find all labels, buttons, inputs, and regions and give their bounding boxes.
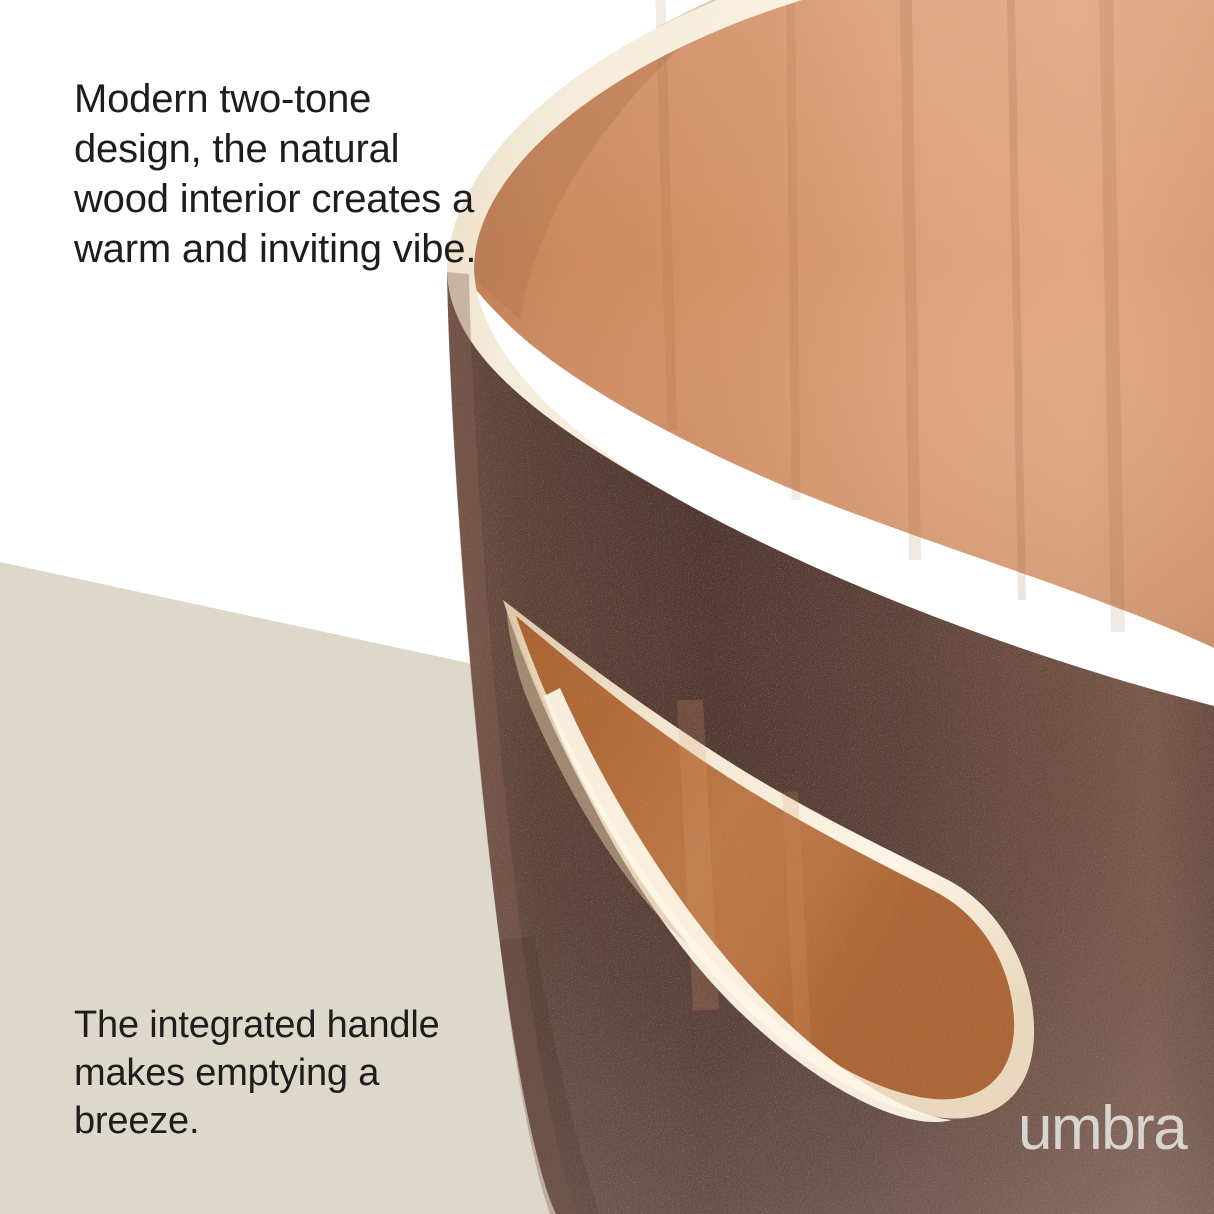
umbra-brand-wordmark: umbra bbox=[1018, 1098, 1186, 1160]
feature-caption-bottom: The integrated handle makes emptying a b… bbox=[74, 1001, 504, 1145]
feature-caption-top: Modern two-tone design, the natural wood… bbox=[74, 74, 494, 274]
product-feature-tile: Modern two-tone design, the natural wood… bbox=[0, 0, 1214, 1214]
